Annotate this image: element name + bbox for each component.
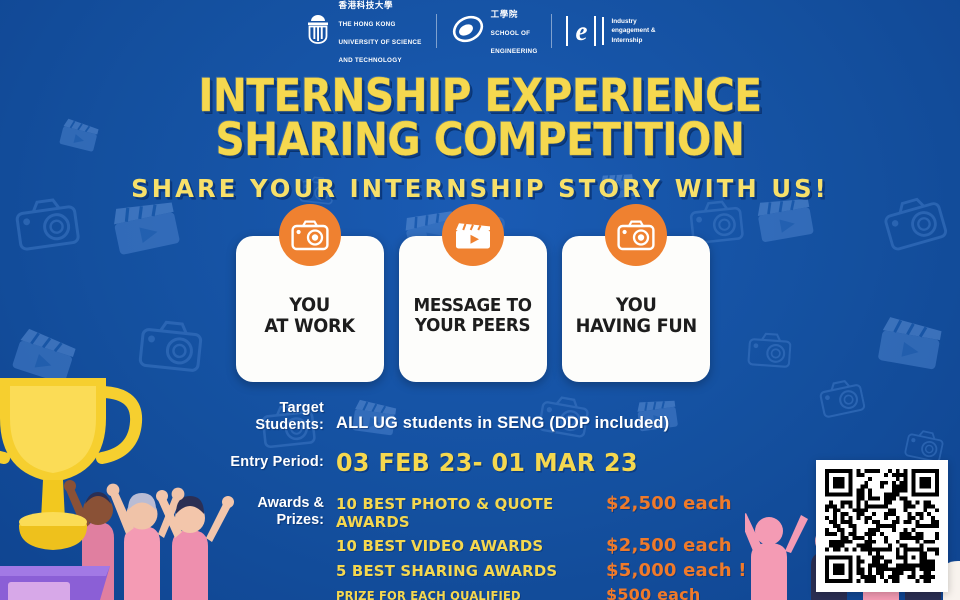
seng-logo-text: 工學院 SCHOOL OF ENGINEERING [491,4,538,58]
award-amount: $5,000 each ! [606,560,756,581]
camera-icon [138,317,205,373]
card-2-line-1: MESSAGE TO [414,295,532,316]
poster-subtitle: SHARE YOUR INTERNSHIP STORY WITH US! [14,174,945,203]
e-logo-mark: e [568,18,594,45]
category-card-label: YOU HAVING FUN [575,295,696,338]
hkust-name-line3: AND TECHNOLOGY [338,57,401,64]
seng-name-line1: SCHOOL OF [491,30,531,37]
target-students-label: Target Students: [226,400,336,434]
seng-name-line2: ENGINEERING [491,48,538,55]
card-3-line-2: HAVING FUN [575,316,696,337]
title-line-2: SHARING COMPETITION [48,118,912,162]
hkust-name-line2: UNIVERSITY OF SCIENCE [338,39,421,46]
target-students-row: Target Students: ALL UG students in SENG… [0,400,960,434]
qr-code-image [825,469,939,583]
hkust-name-line1: THE HONG KONG [338,21,395,28]
entry-period-value: 03 FEB 23- 01 MAR 23 [336,448,638,477]
ei-line3: Internship [611,37,642,44]
ei-line2: engagement & [611,27,655,34]
award-row: PRIZE FOR EACH QUALIFIED SUBMISSION $500… [336,585,756,600]
award-amount: $500 each [606,585,756,600]
category-card-you-at-work[interactable]: YOU AT WORK [236,236,384,382]
hkust-logo: 香港科技大學 THE HONG KONG UNIVERSITY OF SCIEN… [290,0,435,67]
target-students-value: ALL UG students in SENG (DDP included) [336,400,669,433]
seng-name-cn: 工學院 [491,9,518,19]
ei-line1: Industry [611,18,636,25]
poster-title: INTERNSHIP EXPERIENCE SHARING COMPETITIO… [48,74,912,162]
award-row: 10 BEST VIDEO AWARDS $2,500 each [336,535,756,556]
camera-icon [279,204,341,266]
camera-icon [747,331,793,369]
seng-swirl-icon [451,14,485,49]
award-amount: $2,500 each [606,493,756,514]
award-name: 5 BEST SHARING AWARDS [336,562,595,580]
entry-period-label: Entry Period: [226,454,336,471]
award-name: 10 BEST VIDEO AWARDS [336,537,595,555]
industry-engagement-logo: e Industry engagement & Internship [552,16,669,46]
award-name: PRIZE FOR EACH QUALIFIED SUBMISSION [336,589,595,600]
awards-table: 10 BEST PHOTO & QUOTE AWARDS $2,500 each… [336,493,756,600]
target-label-line2: Students: [255,417,324,433]
hkust-logo-text: 香港科技大學 THE HONG KONG UNIVERSITY OF SCIEN… [338,0,421,67]
target-label-line1: Target [280,400,324,416]
qr-code[interactable] [816,460,948,592]
hkust-name-cn: 香港科技大學 [338,0,393,10]
logo-bar: 香港科技大學 THE HONG KONG UNIVERSITY OF SCIEN… [0,9,960,53]
clapperboard-icon [107,194,184,259]
camera-icon [605,204,667,266]
awards-label-line1: Awards & [257,495,324,511]
awards-label: Awards & Prizes: [226,493,336,600]
clapperboard-play-icon [442,204,504,266]
hkust-shield-icon [304,13,332,50]
category-card-you-having-fun[interactable]: YOU HAVING FUN [562,236,710,382]
title-block: INTERNSHIP EXPERIENCE SHARING COMPETITIO… [0,74,960,203]
category-card-label: MESSAGE TO YOUR PEERS [414,296,532,336]
card-1-line-2: AT WORK [265,316,355,337]
award-row: 10 BEST PHOTO & QUOTE AWARDS $2,500 each [336,493,756,531]
card-2-line-2: YOUR PEERS [414,316,532,336]
industry-engagement-text: Industry engagement & Internship [602,17,655,45]
card-3-line-1: YOU [616,294,657,316]
award-name: 10 BEST PHOTO & QUOTE AWARDS [336,495,595,531]
awards-label-line2: Prizes: [276,512,324,528]
award-row: 5 BEST SHARING AWARDS $5,000 each ! [336,560,756,581]
card-1-line-1: YOU [290,294,331,316]
category-cards: YOU AT WORK MESSAGE TO YOUR PEERS [236,236,710,382]
poster-canvas: 香港科技大學 THE HONG KONG UNIVERSITY OF SCIEN… [0,0,960,600]
e-logo-icon: e [566,16,596,46]
seng-logo: 工學院 SCHOOL OF ENGINEERING [437,4,552,58]
category-card-label: YOU AT WORK [265,295,355,338]
clapperboard-icon [874,313,946,373]
award-amount: $2,500 each [606,535,756,556]
category-card-message-to-your-peers[interactable]: MESSAGE TO YOUR PEERS [399,236,547,382]
